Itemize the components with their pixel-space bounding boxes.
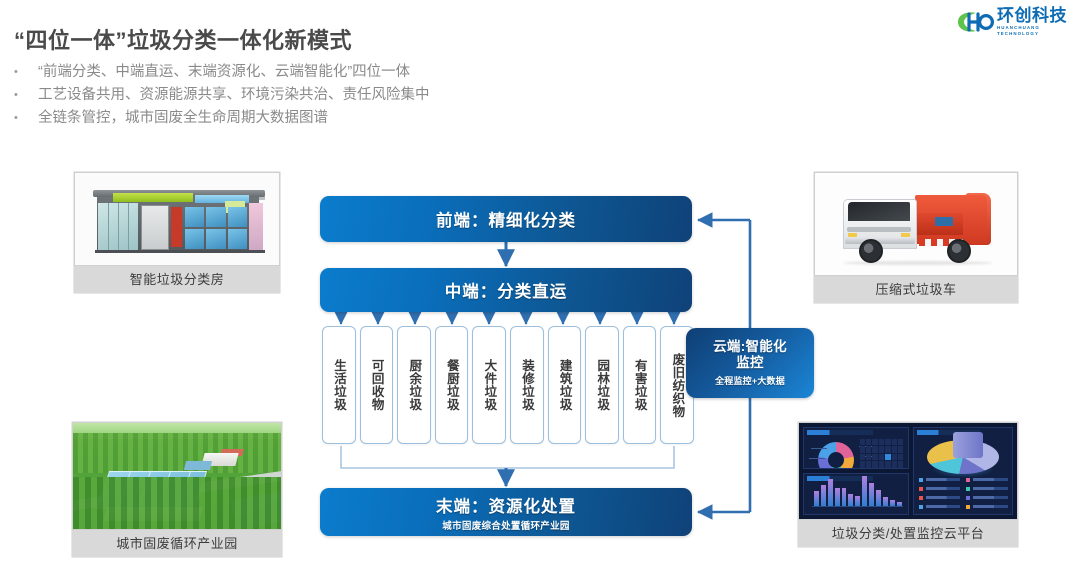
bullet-text: 全链条管控，城市固废全生命周期大数据图谱 (38, 107, 328, 130)
hc-logo-icon (955, 9, 995, 35)
slide-canvas: 环创科技 HUANCHUANG TECHNOLOGY “四位一体”垃圾分类一体化… (0, 0, 1080, 573)
waste-category-list: 生活垃圾 可回收物 厨余垃圾 餐厨垃圾 大件垃圾 装修垃圾 建筑垃圾 园林垃圾 … (322, 326, 694, 444)
waste-category-item[interactable]: 装修垃圾 (510, 326, 544, 444)
photo-card-compression-garbage-truck: 压缩式垃圾车 (814, 172, 1018, 303)
brand-logo: 环创科技 HUANCHUANG TECHNOLOGY (955, 6, 1073, 38)
page-title: “四位一体”垃圾分类一体化新模式 (14, 23, 352, 55)
flow-stage-cloud-subtitle: 全程监控+大数据 (715, 374, 785, 387)
photo-frame (72, 422, 282, 530)
bullet-text: “前端分类、中端直运、末端资源化、云端智能化”四位一体 (38, 61, 410, 84)
bullet-icon: • (14, 84, 38, 107)
list-item: • 全链条管控，城市固废全生命周期大数据图谱 (14, 107, 634, 130)
bullet-text: 工艺设备共用、资源能源共享、环境污染共治、责任风险集中 (38, 84, 430, 107)
logo-english-name: HUANCHUANG TECHNOLOGY (997, 25, 1073, 37)
waste-category-label: 废旧纺织物 (670, 353, 685, 418)
dashboard-pie3d-panel (913, 427, 1014, 515)
waste-category-label: 大件垃圾 (482, 359, 497, 411)
flow-stage-middle[interactable]: 中端：分类直运 (320, 268, 692, 312)
flow-stage-cloud-line1: 云端:智能化 (713, 339, 787, 355)
flow-stage-end[interactable]: 末端：资源化处置 城市固废综合处置循环产业园 (320, 488, 692, 536)
flow-stage-front[interactable]: 前端：精细化分类 (320, 196, 692, 242)
dashboard-legend (919, 476, 1009, 510)
waste-category-label: 餐厨垃圾 (444, 359, 459, 411)
waste-category-item[interactable]: 大件垃圾 (472, 326, 506, 444)
list-item: • “前端分类、中端直运、末端资源化、云端智能化”四位一体 (14, 61, 634, 84)
pie3d-chart (927, 432, 999, 476)
waste-category-label: 装修垃圾 (520, 359, 535, 411)
waste-category-item[interactable]: 厨余垃圾 (397, 326, 431, 444)
photo-frame (814, 172, 1018, 276)
smart-sorting-house-image (75, 173, 279, 265)
photo-card-smart-sorting-house: 智能垃圾分类房 (74, 172, 280, 293)
waste-category-item[interactable]: 可回收物 (360, 326, 394, 444)
bullet-list: • “前端分类、中端直运、末端资源化、云端智能化”四位一体 • 工艺设备共用、资… (14, 61, 634, 130)
flow-stage-cloud-line2: 监控 (736, 355, 764, 371)
waste-category-item[interactable]: 餐厨垃圾 (435, 326, 469, 444)
flow-stage-end-subtitle: 城市固废综合处置循环产业园 (442, 518, 569, 532)
waste-category-label: 可回收物 (369, 359, 384, 411)
waste-category-label: 园林垃圾 (595, 359, 610, 411)
list-item: • 工艺设备共用、资源能源共享、环境污染共治、责任风险集中 (14, 84, 634, 107)
waste-category-label: 生活垃圾 (332, 359, 347, 411)
flow-stage-front-title: 前端：精细化分类 (436, 207, 576, 231)
photo-card-urban-solid-waste-park: 城市固废循环产业园 (72, 422, 282, 557)
bullet-icon: • (14, 61, 38, 84)
bullet-icon: • (14, 107, 38, 130)
waste-category-item[interactable]: 建筑垃圾 (548, 326, 582, 444)
photo-caption: 城市固废循环产业园 (72, 530, 282, 557)
logo-chinese-name: 环创科技 (997, 7, 1073, 24)
waste-category-item[interactable]: 有害垃圾 (623, 326, 657, 444)
photo-caption: 智能垃圾分类房 (74, 266, 280, 293)
process-flow-diagram: 前端：精细化分类 中端：分类直运 生活垃圾 可回收物 厨余垃圾 餐厨垃圾 大件垃… (320, 196, 840, 544)
waste-category-item[interactable]: 生活垃圾 (322, 326, 356, 444)
photo-caption: 压缩式垃圾车 (814, 276, 1018, 303)
urban-solid-waste-park-image (73, 423, 281, 529)
photo-frame (74, 172, 280, 266)
waste-category-label: 有害垃圾 (632, 359, 647, 411)
flow-stage-middle-title: 中端：分类直运 (445, 278, 568, 302)
waste-category-label: 建筑垃圾 (557, 359, 572, 411)
flow-stage-end-title: 末端：资源化处置 (436, 493, 576, 517)
waste-category-item[interactable]: 园林垃圾 (585, 326, 619, 444)
calendar-widget (860, 439, 904, 469)
waste-category-label: 厨余垃圾 (407, 359, 422, 411)
flow-stage-cloud[interactable]: 云端:智能化 监控 全程监控+大数据 (686, 328, 814, 398)
compression-garbage-truck-image (815, 173, 1017, 275)
